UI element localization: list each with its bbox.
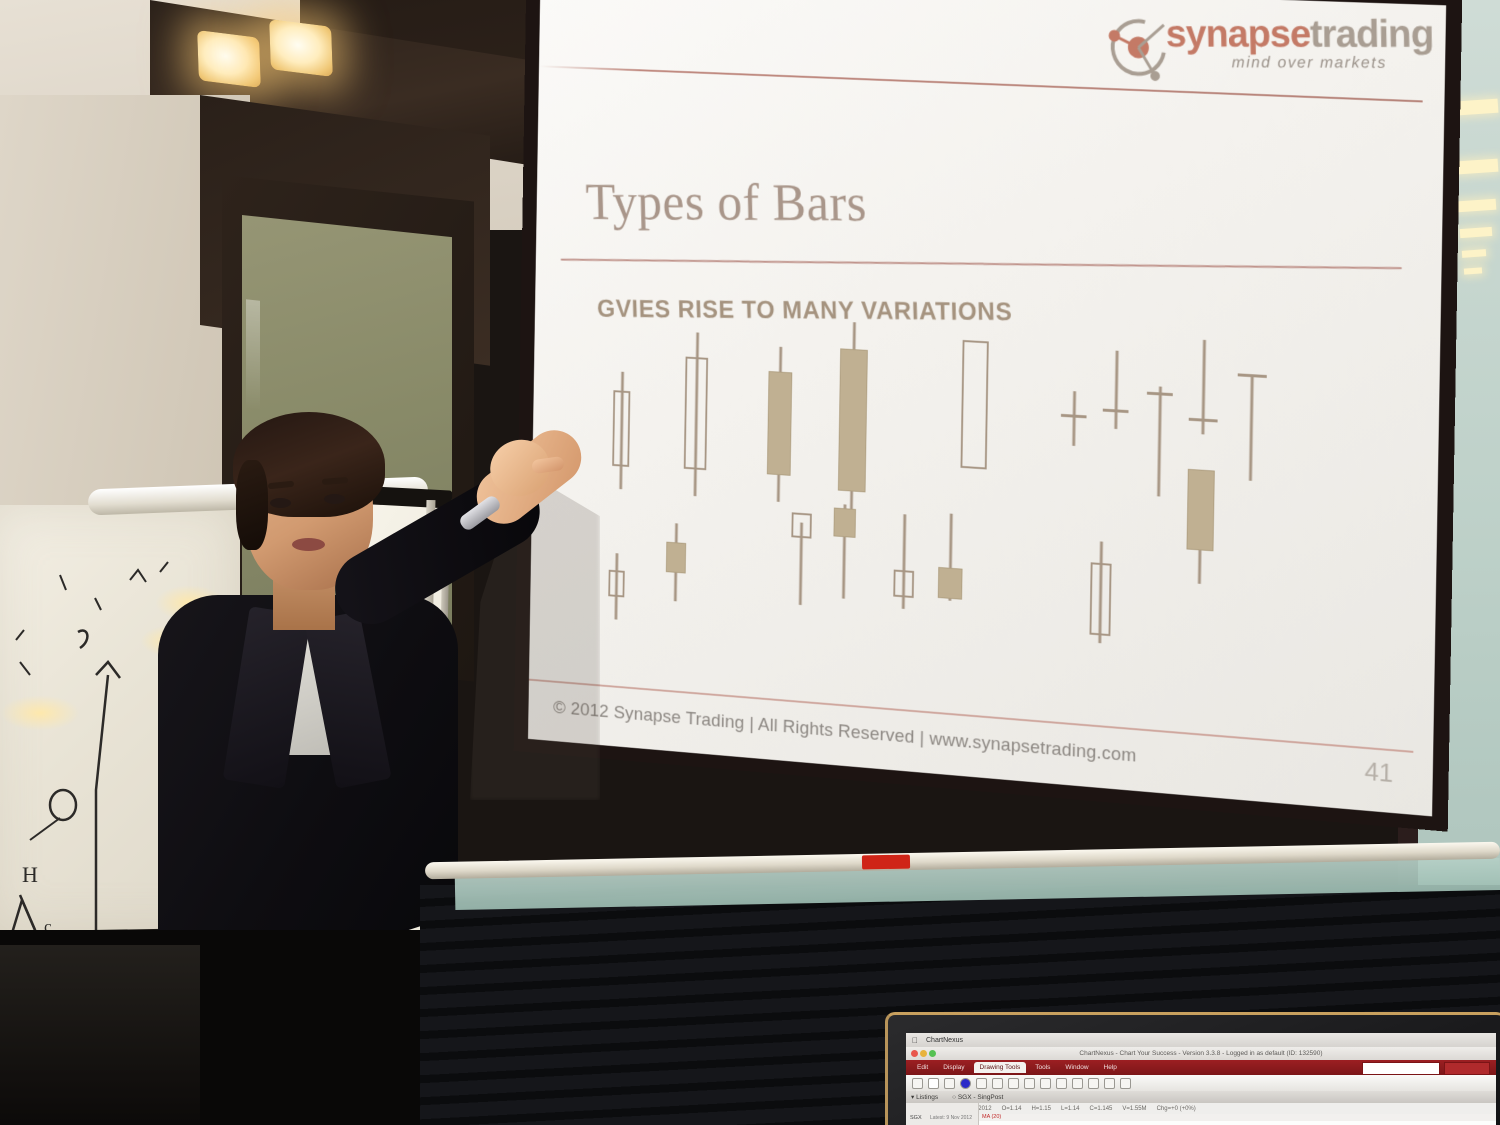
roller-red-label <box>862 855 910 870</box>
logo-tagline: mind over markets <box>1232 55 1387 73</box>
quote-field-2: O=1.14 <box>1002 1106 1022 1112</box>
app-tab-help[interactable]: Help <box>1098 1062 1123 1073</box>
slide-title: Types of Bars <box>585 172 868 233</box>
eye-left <box>270 498 291 508</box>
candle-body <box>1186 469 1214 551</box>
erase-tool-icon[interactable] <box>1040 1078 1051 1089</box>
listings-sidebar[interactable] <box>906 1103 979 1125</box>
candle-body <box>608 570 624 598</box>
mouth <box>292 538 325 551</box>
mac-menubar[interactable]:  ChartNexus <box>906 1033 1496 1047</box>
tall-hollow-candle <box>683 322 708 487</box>
app-tab-window[interactable]: Window <box>1059 1062 1094 1073</box>
ceiling-light-1 <box>197 30 261 88</box>
menubar-app-name: ChartNexus <box>926 1037 963 1044</box>
candle-wick <box>1114 351 1118 429</box>
panel-header-item-0[interactable]: ▾ Listings <box>911 1093 938 1101</box>
search-input[interactable] <box>1362 1062 1440 1075</box>
app-tab-drawing-tools[interactable]: Drawing Tools <box>974 1062 1027 1073</box>
candle-body <box>666 542 686 574</box>
price-chart-canvas[interactable] <box>979 1121 1496 1125</box>
glass-door-sheen <box>246 299 260 410</box>
line-tool-icon[interactable] <box>928 1078 939 1089</box>
app-tab-display[interactable]: Display <box>937 1062 970 1073</box>
grid-tool-icon[interactable] <box>1056 1078 1067 1089</box>
doji-gravestone <box>1236 373 1267 481</box>
slide-page-number: 41 <box>1364 756 1393 789</box>
arc-tool-icon[interactable] <box>1024 1078 1035 1089</box>
copy-icon[interactable] <box>1120 1078 1131 1089</box>
quote-field-4: L=1.14 <box>1061 1106 1080 1112</box>
doji-cross-small <box>1061 373 1087 429</box>
app-tab-edit[interactable]: Edit <box>911 1062 934 1073</box>
tall-hollow-body-lower <box>1089 537 1112 640</box>
panel-header-item-1[interactable]: ○ SGX - SingPost <box>952 1094 1003 1101</box>
hollow-marubozu <box>960 340 988 470</box>
spinning-top-hollow <box>608 545 625 612</box>
candle-body <box>838 348 868 492</box>
small-hollow-candle <box>612 354 631 472</box>
synapse-orbit-icon <box>1104 11 1172 84</box>
slide-surface: synapsetrading mind over markets Types o… <box>528 0 1446 816</box>
app-tab-tools[interactable]: Tools <box>1029 1062 1056 1073</box>
window-titlebar: ChartNexus - Chart Your Success - Versio… <box>906 1047 1496 1060</box>
doji-long-lower <box>1145 372 1173 483</box>
candle-body <box>960 340 988 470</box>
maximize-icon[interactable] <box>929 1050 936 1057</box>
hline-tool-icon[interactable] <box>944 1078 955 1089</box>
medium-filled-candle <box>767 339 793 495</box>
logo-word-trading: trading <box>1310 13 1434 56</box>
shooting-star-filled <box>832 504 856 600</box>
candle-body <box>938 567 963 600</box>
close-icon[interactable] <box>911 1050 918 1057</box>
doji-dragonfly <box>1189 335 1219 431</box>
panel-header: ▾ Listings○ SGX - SingPost <box>906 1091 1496 1103</box>
quote-field-5: C=1.145 <box>1090 1106 1113 1112</box>
title-underline <box>561 259 1402 269</box>
candle-wick <box>1157 386 1162 496</box>
large-filled-candle <box>838 314 869 514</box>
zoom-in-icon[interactable] <box>1072 1078 1083 1089</box>
candlestick-diagram <box>565 306 1413 732</box>
quote-field-3: H=1.15 <box>1031 1106 1051 1112</box>
cursor-tool-icon[interactable] <box>912 1078 923 1089</box>
synapsetrading-logo: synapsetrading mind over markets <box>1104 7 1426 99</box>
shooting-star-hollow <box>790 512 811 596</box>
candle-body <box>767 371 792 476</box>
text-tool-icon[interactable] <box>976 1078 987 1089</box>
drawing-toolbar[interactable] <box>906 1075 1496 1091</box>
quote-field-7: Chg=+0 (+0%) <box>1157 1106 1196 1112</box>
laptop-screen[interactable]:  ChartNexus ChartNexus - Chart Your Suc… <box>906 1033 1496 1125</box>
eye-right <box>324 494 345 504</box>
candle-body <box>612 390 630 467</box>
hammer-filled <box>938 513 964 602</box>
candle-body <box>791 512 811 538</box>
tall-filled-body-upper <box>1186 469 1215 585</box>
whiteboard-letter-h: H <box>22 862 38 887</box>
quote-row: SingPost (S08)16-11-2012O=1.14H=1.15L=1.… <box>906 1103 1496 1114</box>
laptop:  ChartNexus ChartNexus - Chart Your Suc… <box>885 1012 1500 1125</box>
candle-wick <box>1249 374 1254 481</box>
candle-wick <box>1072 391 1076 446</box>
indicator-label: MA (20) <box>982 1114 1001 1120</box>
logo-word-synapse: synapse <box>1166 13 1311 56</box>
pan-tool-icon[interactable] <box>1104 1078 1115 1089</box>
presenter-hair-side <box>236 460 268 550</box>
candle-body <box>684 357 708 471</box>
candle-body <box>833 508 856 538</box>
exchange-label: SGX <box>910 1115 922 1121</box>
quote-field-6: V=1.55M <box>1122 1106 1146 1112</box>
window-reflection-1 <box>1458 99 1499 116</box>
ceiling-light-2 <box>269 19 333 77</box>
window-title: ChartNexus - Chart Your Success - Versio… <box>1079 1050 1322 1057</box>
window-reflection-2 <box>1458 159 1499 175</box>
projection-screen: synapsetrading mind over markets Types o… <box>514 0 1463 832</box>
desk-edge <box>0 945 200 1125</box>
logo-wordmark: synapsetrading <box>1166 13 1434 57</box>
screenshot-root: H c synapsetrading <box>0 0 1500 1125</box>
doji-long-upper <box>1103 344 1130 424</box>
minimize-icon[interactable] <box>920 1050 927 1057</box>
candle-body <box>893 570 914 598</box>
latest-date-label: Latest: 9 Nov 2012 <box>930 1115 972 1121</box>
candle-body <box>1089 562 1111 636</box>
spinning-top-filled <box>665 519 686 598</box>
trend-tool-icon[interactable] <box>992 1078 1003 1089</box>
hammer-hollow <box>893 514 915 610</box>
zoom-out-icon[interactable] <box>1088 1078 1099 1089</box>
dot-tool-icon[interactable] <box>960 1078 971 1089</box>
sign-out-button[interactable] <box>1444 1062 1490 1075</box>
apple-icon:  <box>912 1036 918 1045</box>
fib-tool-icon[interactable] <box>1008 1078 1019 1089</box>
window-reflection-6 <box>1464 267 1482 274</box>
